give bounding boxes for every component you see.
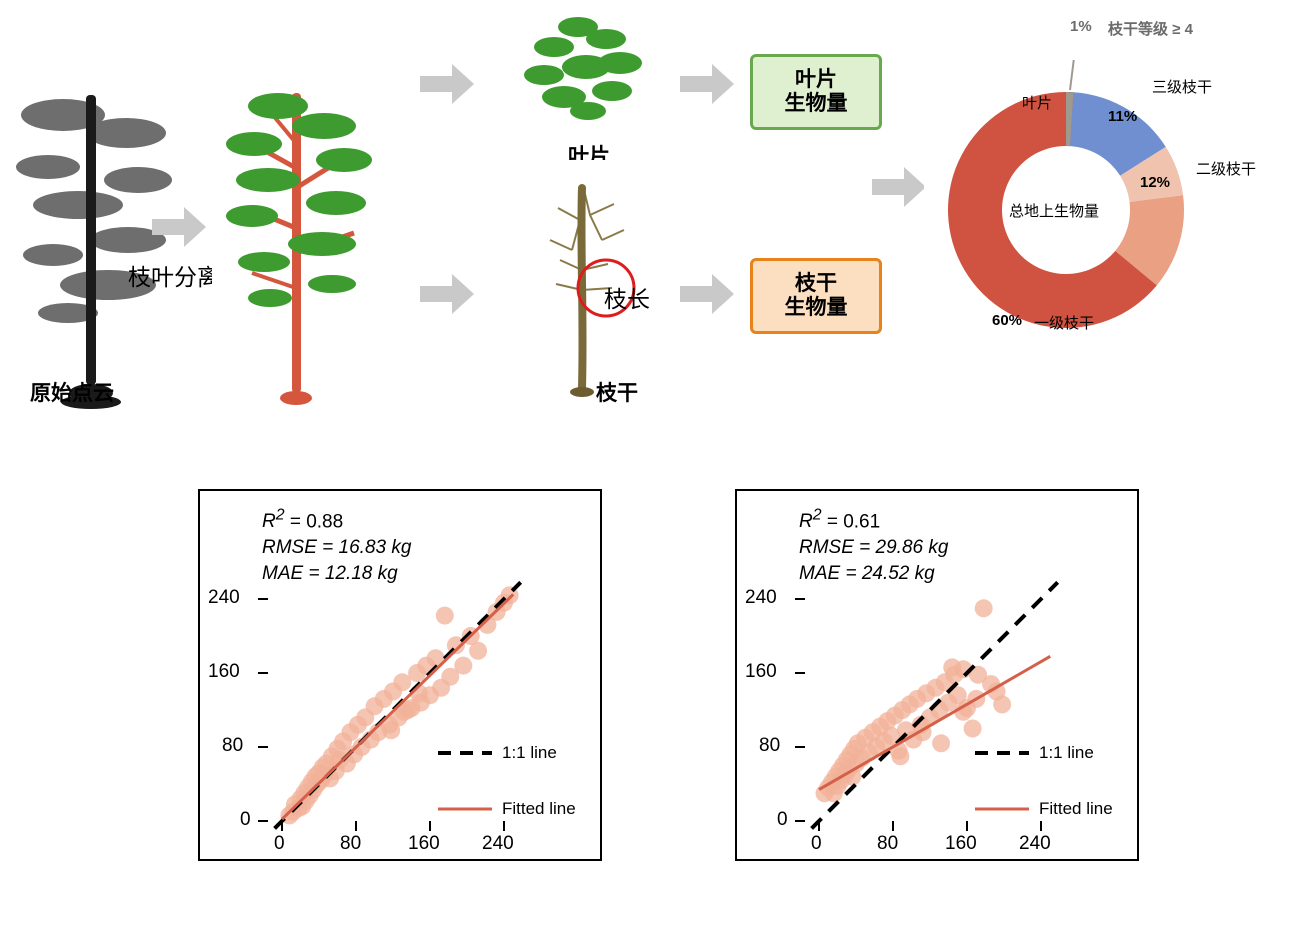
donut-order4plus-label: 枝干等级 ≥ 4: [1108, 18, 1193, 39]
scatter-point: [469, 642, 487, 660]
chart-left-stats: R2 = 0.88 RMSE = 16.83 kg MAE = 12.18 kg: [262, 505, 411, 586]
chart-right-r2-sup: 2: [813, 507, 822, 524]
chart-right-xtick-80: 80: [877, 833, 898, 855]
panel-raw-point-cloud-label: 原始点云: [30, 377, 114, 407]
chart-right-ytick-80: 80: [759, 735, 780, 757]
chart-left-rmse: RMSE = 16.83 kg: [262, 537, 411, 558]
chart-right-stats: R2 = 0.61 RMSE = 29.86 kg MAE = 24.52 kg: [799, 505, 948, 586]
arrow-to-wood-box-icon: [678, 272, 736, 321]
chart-left-ytick-0: 0: [240, 809, 251, 831]
chart-right-xtick-0: 0: [811, 833, 822, 855]
chart-left-ytick-160: 160: [208, 661, 240, 683]
arrow-to-leaf-icon: [418, 62, 476, 111]
wood-biomass-line1: 枝干: [795, 272, 837, 296]
chart-right-xtick-160: 160: [945, 833, 977, 855]
chart-left-xtick-160: 160: [408, 833, 440, 855]
arrow-to-leaf-box-icon: [678, 62, 736, 111]
scatter-point: [975, 599, 993, 617]
chart-left-r2-sup: 2: [276, 507, 285, 524]
scatter-point: [382, 721, 400, 739]
scatter-point: [891, 747, 909, 765]
fitted-line: [282, 594, 513, 819]
chart-left-legend-1to1: 1:1 line: [502, 743, 557, 763]
chart-left-mae: MAE = 12.18 kg: [262, 563, 398, 584]
arrow-separation-icon: [150, 205, 208, 254]
donut-order1-pct: 60%: [992, 312, 1022, 329]
scatter-point: [943, 658, 961, 676]
chart-right-ytick-240: 240: [745, 587, 777, 609]
scatter-point: [454, 657, 472, 675]
chart-right-xtick-240: 240: [1019, 833, 1051, 855]
fitted-line: [819, 656, 1050, 789]
donut-leaf-label: 叶片: [1022, 92, 1052, 113]
donut-order1-label: 一级枝干: [1034, 312, 1094, 333]
wood-biomass-line2: 生物量: [785, 296, 848, 320]
one-to-one-line: [812, 582, 1058, 828]
chart-left-xtick-80: 80: [340, 833, 361, 855]
chart-left-r2-label: R: [262, 511, 276, 532]
arrow-to-donut-icon: [870, 165, 928, 214]
leaf-biomass-line1: 叶片: [795, 68, 837, 92]
chart-left-xtick-0: 0: [274, 833, 285, 855]
scatter-point: [993, 695, 1011, 713]
arrow-to-wood-icon: [418, 272, 476, 321]
donut-leaf-pct: 16%: [956, 104, 986, 121]
donut-center-label: 总地上生物量: [1009, 200, 1099, 221]
chart-left-r2-value: = 0.88: [285, 511, 344, 532]
scatter-point: [393, 673, 411, 691]
panel-leaf-wood-separated: [212, 48, 386, 410]
panel-leaf-points: [520, 5, 654, 135]
leaf-biomass-box[interactable]: 叶片 生物量: [750, 54, 882, 130]
chart-right: R2 = 0.61 RMSE = 29.86 kg MAE = 24.52 kg…: [735, 489, 1139, 861]
scatter-point: [932, 734, 950, 752]
chart-left-ytick-80: 80: [222, 735, 243, 757]
chart-left: R2 = 0.88 RMSE = 16.83 kg MAE = 12.18 kg…: [198, 489, 602, 861]
chart-right-ytick-160: 160: [745, 661, 777, 683]
chart-right-ytick-0: 0: [777, 809, 788, 831]
leaf-wood-separation-label: 枝叶分离: [128, 258, 220, 292]
wood-biomass-box[interactable]: 枝干 生物量: [750, 258, 882, 334]
scatter-point: [436, 607, 454, 625]
donut-order4plus-pct: 1%: [1070, 18, 1092, 35]
chart-right-r2-label: R: [799, 511, 813, 532]
donut-order3-label: 三级枝干: [1152, 76, 1212, 97]
chart-right-mae: MAE = 24.52 kg: [799, 563, 935, 584]
chart-left-xtick-240: 240: [482, 833, 514, 855]
chart-left-legend-fitted: Fitted line: [502, 799, 576, 819]
scatter-point: [964, 720, 982, 738]
donut-order2-pct: 12%: [1140, 174, 1170, 191]
chart-right-rmse: RMSE = 29.86 kg: [799, 537, 948, 558]
chart-right-r2-value: = 0.61: [822, 511, 881, 532]
leaf-biomass-line2: 生物量: [785, 92, 848, 116]
donut-order3-pct: 11%: [1108, 108, 1137, 125]
donut-leader-line: [1070, 60, 1076, 90]
branch-length-label: 枝长: [604, 280, 650, 314]
panel-wood-points-label: 枝干: [596, 377, 638, 407]
chart-right-legend-fitted: Fitted line: [1039, 799, 1113, 819]
chart-right-legend-1to1: 1:1 line: [1039, 743, 1094, 763]
donut-order2-label: 二级枝干: [1196, 158, 1256, 179]
chart-left-ytick-240: 240: [208, 587, 240, 609]
